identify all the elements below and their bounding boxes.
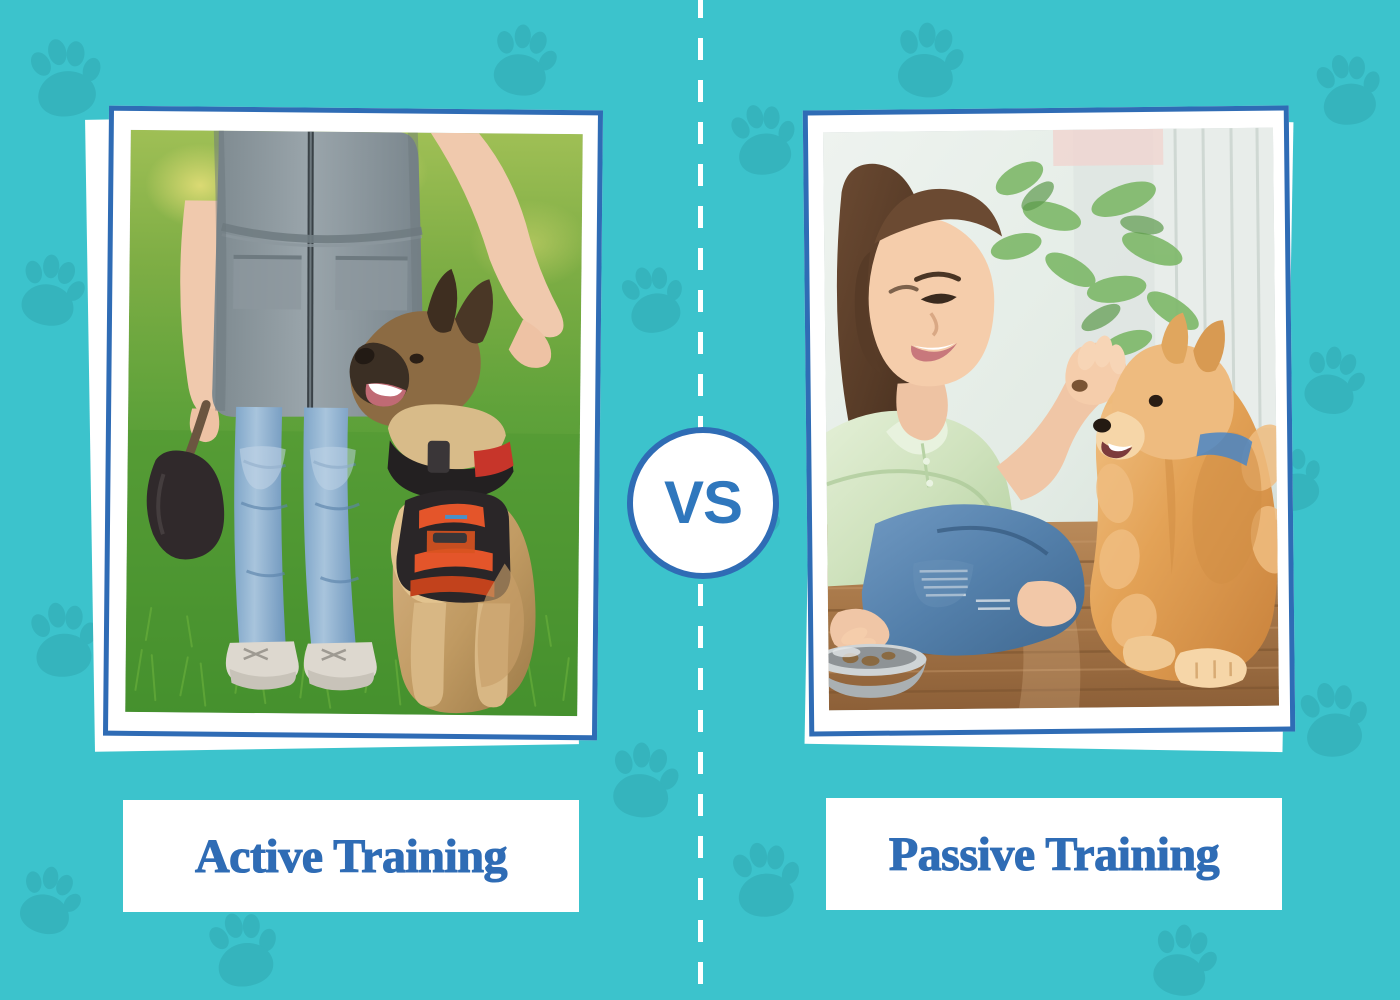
vs-badge: VS (627, 427, 779, 579)
vs-label: VS (664, 473, 742, 533)
right-label-plate: Passive Training (826, 798, 1282, 910)
comparison-graphic: VS Active Training Passive Training (0, 0, 1400, 1000)
right-photo-card (800, 108, 1300, 748)
left-label-text: Active Training (195, 829, 507, 884)
left-photo-card (90, 108, 600, 748)
right-label-text: Passive Training (889, 827, 1219, 882)
right-photo (823, 128, 1279, 711)
left-label-plate: Active Training (123, 800, 579, 912)
left-photo (125, 130, 583, 716)
